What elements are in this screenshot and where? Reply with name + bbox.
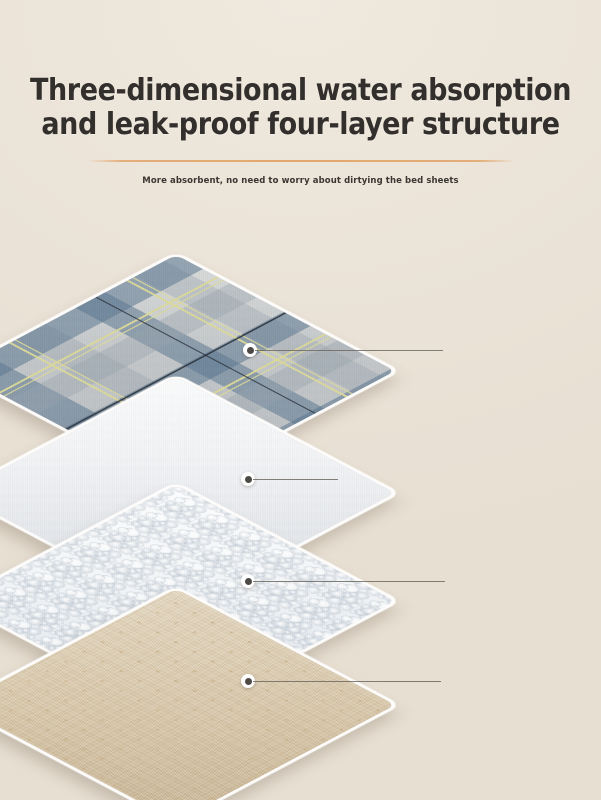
callout-leader-soft-cotton <box>255 350 443 351</box>
infographic-page: Three-dimensional water absorption and l… <box>0 0 601 800</box>
layer-stack <box>0 0 601 800</box>
callout-leader-silicone <box>253 681 441 682</box>
callout-leader-tpu <box>253 581 445 582</box>
callout-leader-sandwich-cotton <box>253 479 338 480</box>
